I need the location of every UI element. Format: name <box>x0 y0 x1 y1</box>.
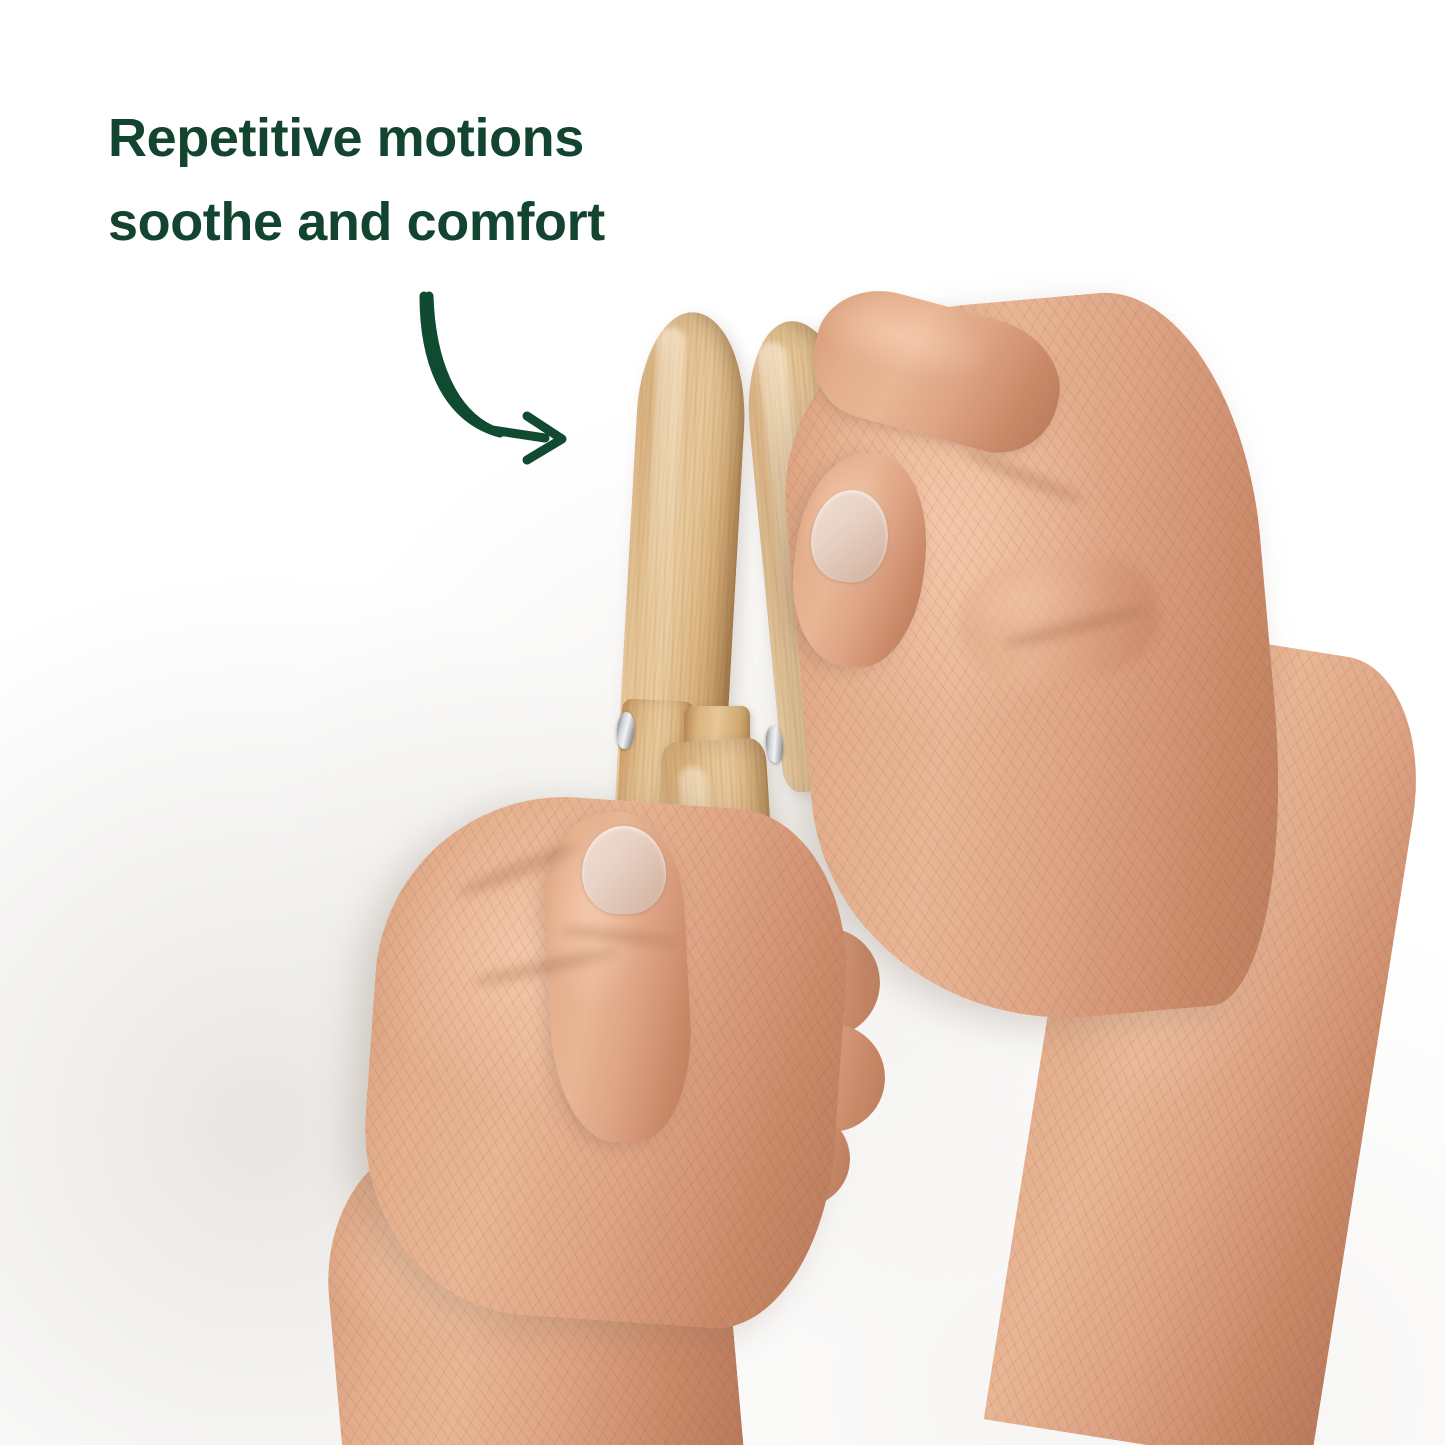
headline-text: Repetitive motions soothe and comfort <box>108 96 748 264</box>
product-lifestyle-photo: Repetitive motions soothe and comfort <box>0 0 1445 1445</box>
